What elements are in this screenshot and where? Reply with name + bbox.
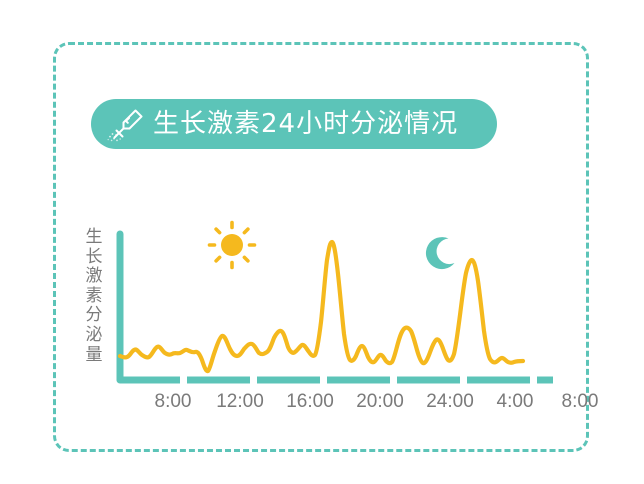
x-tick-4: 24:00 — [426, 390, 474, 414]
moon-icon — [426, 237, 455, 269]
x-tick-1: 12:00 — [216, 390, 264, 414]
x-tick-3: 20:00 — [356, 390, 404, 414]
quill-feather-icon — [105, 104, 149, 144]
x-tick-0: 8:00 — [155, 390, 192, 414]
x-tick-2: 16:00 — [286, 390, 334, 414]
infographic-root: 生长激素24小时分泌情况 生 长 激 素 分 泌 量 — [0, 0, 644, 484]
page-title: 生长激素24小时分泌情况 — [153, 111, 458, 137]
x-axis-tick-labels: 8:00 12:00 16:00 20:00 24:00 4:00 8:00 — [53, 390, 589, 416]
title-banner: 生长激素24小时分泌情况 — [91, 99, 497, 149]
x-tick-5: 4:00 — [497, 390, 534, 414]
gh-secretion-curve — [120, 242, 523, 371]
x-tick-6: 8:00 — [562, 390, 599, 414]
sun-icon — [210, 223, 255, 268]
